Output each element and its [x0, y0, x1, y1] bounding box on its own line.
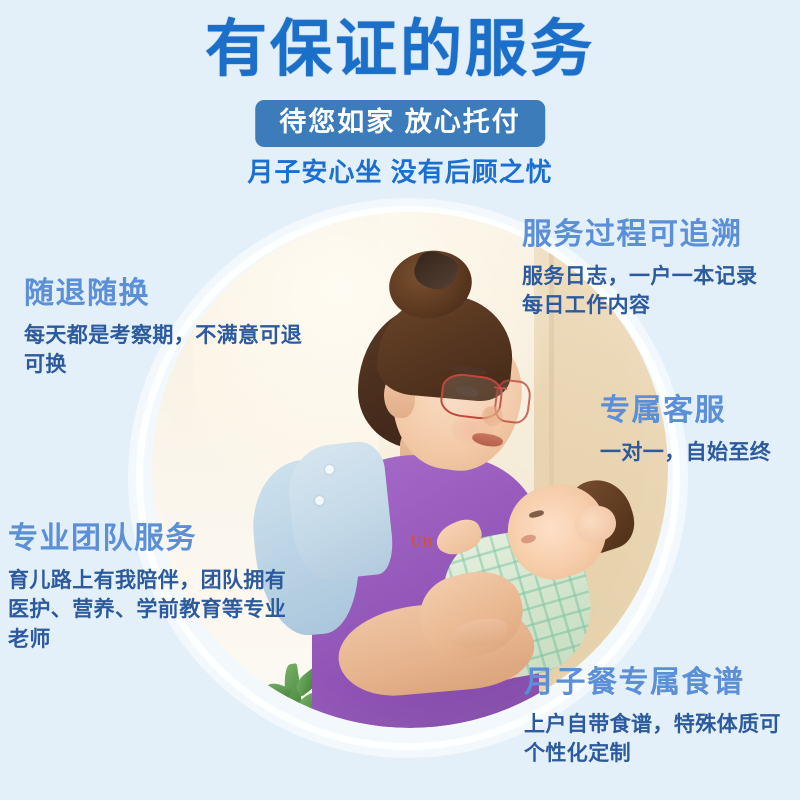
feature-heading: 服务过程可追溯 [522, 216, 800, 254]
feature-body: 一对一，自始至终 [600, 438, 800, 468]
feature-heading: 专属客服 [600, 392, 800, 430]
feature-heading: 随退随换 [24, 275, 324, 313]
feature-professional-team: 专业团队服务 育儿路上有我陪伴，团队拥有医护、营养、学前教育等专业老师 [8, 520, 308, 655]
page-subtitle: 月子安心坐 没有后顾之忧 [0, 152, 800, 189]
feature-heading: 专业团队服务 [8, 520, 308, 558]
feature-postpartum-menu: 月子餐专属食谱 上户自带食谱，特殊体质可个性化定制 [524, 664, 800, 769]
caregiver-nose [482, 406, 503, 427]
denim-button [325, 465, 334, 474]
feature-body: 上户自带食谱，特殊体质可个性化定制 [524, 710, 786, 770]
feature-body: 育儿路上有我陪伴，团队拥有医护、营养、学前教育等专业老师 [8, 566, 288, 655]
feature-body: 每天都是考察期，不满意可退可换 [24, 321, 314, 381]
feature-heading: 月子餐专属食谱 [524, 664, 800, 702]
promo-poster: 有保证的服务 待您如家 放心托付 月子安心坐 没有后顾之忧 [0, 0, 800, 800]
feature-dedicated-support: 专属客服 一对一，自始至终 [600, 392, 800, 467]
denim-button [315, 496, 324, 505]
feature-traceable-service: 服务过程可追溯 服务日志，一户一本记录每日工作内容 [522, 216, 800, 321]
tagline-badge: 待您如家 放心托付 [255, 100, 545, 147]
page-title: 有保证的服务 [0, 16, 800, 84]
feature-return-exchange: 随退随换 每天都是考察期，不满意可退可换 [24, 275, 324, 380]
feature-body: 服务日志，一户一本记录每日工作内容 [522, 262, 772, 322]
